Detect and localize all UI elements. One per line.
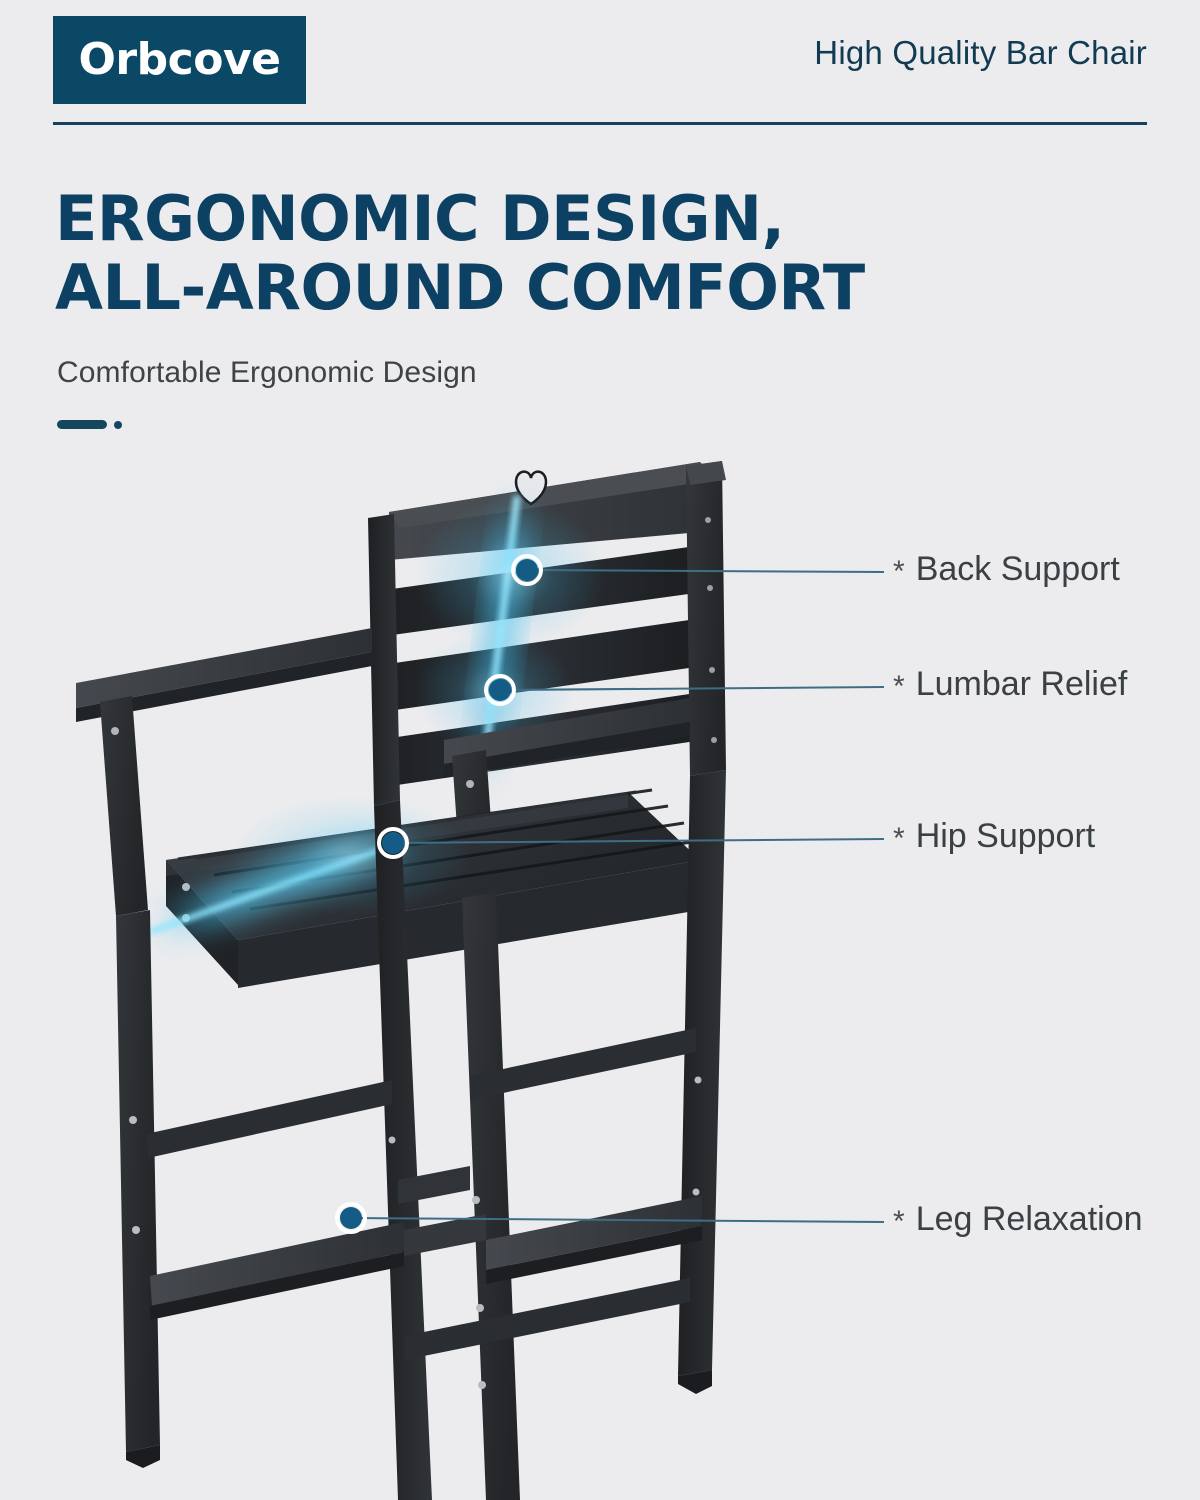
callout-label-text: Leg Relaxation	[916, 1200, 1143, 1239]
callout-label-text: Back Support	[916, 550, 1120, 589]
asterisk-icon: *	[893, 557, 905, 587]
callout-back-support[interactable]: * Back Support	[893, 550, 1120, 589]
asterisk-icon: *	[893, 824, 905, 854]
callout-leg-relaxation[interactable]: * Leg Relaxation	[893, 1200, 1143, 1239]
callout-lumbar-relief[interactable]: * Lumbar Relief	[893, 665, 1127, 704]
callout-dot[interactable]	[340, 1207, 362, 1229]
callout-label-text: Hip Support	[916, 817, 1096, 856]
callout-dot[interactable]	[489, 679, 511, 701]
infographic-page: Orbcove High Quality Bar Chair ERGONOMIC…	[0, 0, 1200, 1500]
callout-dot[interactable]	[516, 559, 538, 581]
callout-label-text: Lumbar Relief	[916, 665, 1128, 704]
callout-hip-support[interactable]: * Hip Support	[893, 817, 1095, 856]
callout-leader-line	[500, 687, 884, 690]
asterisk-icon: *	[893, 672, 905, 702]
callout-overlay	[0, 0, 1200, 1500]
asterisk-icon: *	[893, 1207, 905, 1237]
callout-leader-line	[393, 839, 884, 843]
callout-dot[interactable]	[382, 832, 404, 854]
callout-leader-line	[527, 570, 884, 572]
callout-leader-line	[351, 1218, 884, 1222]
